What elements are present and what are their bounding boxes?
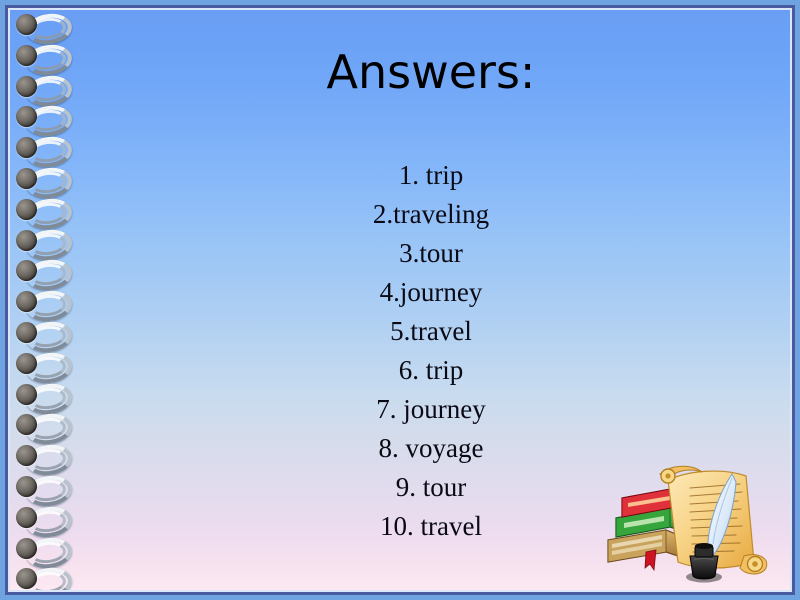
punched-hole — [16, 291, 37, 312]
spiral-wire-highlight — [29, 170, 67, 195]
spiral-wire — [24, 504, 74, 540]
punched-hole — [16, 507, 37, 528]
slide: Answers: 1. trip2.traveling3.tour4.journ… — [0, 0, 800, 600]
spiral-ring — [10, 352, 68, 378]
spiral-ring — [10, 475, 68, 501]
spiral-ring — [10, 321, 68, 347]
punched-hole — [16, 445, 37, 466]
spiral-wire — [24, 381, 74, 417]
spiral-ring — [10, 229, 68, 255]
spiral-ring — [10, 290, 68, 316]
punched-hole — [16, 476, 37, 497]
spiral-wire — [24, 134, 74, 170]
spiral-ring — [10, 259, 68, 285]
punched-hole — [16, 353, 37, 374]
punched-hole — [16, 384, 37, 405]
spiral-wire-highlight — [29, 139, 67, 164]
books-scroll-quill-icon — [594, 444, 784, 584]
spiral-ring — [10, 198, 68, 224]
spiral-wire — [24, 535, 74, 571]
spiral-ring — [10, 444, 68, 470]
spiral-ring — [10, 413, 68, 439]
spiral-wire-highlight — [29, 478, 67, 503]
answer-item: 7. journey — [72, 390, 790, 429]
spiral-wire — [24, 257, 74, 293]
spiral-binding — [10, 10, 72, 590]
spiral-wire-highlight — [29, 16, 67, 41]
answer-item: 3.tour — [72, 234, 790, 273]
spiral-wire — [24, 442, 74, 478]
punched-hole — [16, 106, 37, 127]
spiral-wire — [24, 288, 74, 324]
spiral-wire-highlight — [29, 293, 67, 318]
spiral-wire-highlight — [29, 540, 67, 565]
spiral-wire — [24, 103, 74, 139]
spiral-wire-highlight — [29, 447, 67, 472]
spiral-ring — [10, 136, 68, 162]
spiral-wire — [24, 165, 74, 201]
spiral-wire — [24, 42, 74, 78]
spiral-wire-highlight — [29, 386, 67, 411]
bookmark-ribbon — [645, 550, 656, 570]
spiral-wire-highlight — [29, 324, 67, 349]
spiral-ring — [10, 537, 68, 563]
spiral-wire — [24, 11, 74, 47]
punched-hole — [16, 568, 37, 589]
spiral-ring — [10, 105, 68, 131]
spiral-wire-highlight — [29, 201, 67, 226]
spiral-wire-highlight — [29, 78, 67, 103]
spiral-wire-highlight — [29, 355, 67, 380]
punched-hole — [16, 199, 37, 220]
punched-hole — [16, 260, 37, 281]
spiral-ring — [10, 567, 68, 590]
answer-item: 4.journey — [72, 273, 790, 312]
spiral-ring — [10, 44, 68, 70]
spiral-wire — [24, 227, 74, 263]
punched-hole — [16, 322, 37, 343]
spiral-wire-highlight — [29, 509, 67, 534]
page-title: Answers: — [72, 48, 790, 96]
punched-hole — [16, 137, 37, 158]
punched-hole — [16, 168, 37, 189]
spiral-wire — [24, 565, 74, 590]
spiral-wire — [24, 411, 74, 447]
spiral-wire-highlight — [29, 47, 67, 72]
spiral-wire — [24, 350, 74, 386]
punched-hole — [16, 14, 37, 35]
spiral-wire-highlight — [29, 232, 67, 257]
answer-item: 2.traveling — [72, 195, 790, 234]
notebook-page: Answers: 1. trip2.traveling3.tour4.journ… — [10, 10, 790, 590]
spiral-wire-highlight — [29, 109, 67, 134]
punched-hole — [16, 76, 37, 97]
spiral-wire — [24, 73, 74, 109]
spiral-wire — [24, 196, 74, 232]
spiral-ring — [10, 13, 68, 39]
spiral-ring — [10, 383, 68, 409]
spiral-wire-highlight — [29, 571, 67, 590]
spiral-wire-highlight — [29, 263, 67, 288]
spiral-wire — [24, 473, 74, 509]
answer-item: 5.travel — [72, 312, 790, 351]
spiral-wire-highlight — [29, 417, 67, 442]
spiral-wire — [24, 319, 74, 355]
answer-item: 6. trip — [72, 351, 790, 390]
punched-hole — [16, 45, 37, 66]
punched-hole — [16, 230, 37, 251]
punched-hole — [16, 414, 37, 435]
spiral-ring — [10, 506, 68, 532]
answer-item: 1. trip — [72, 156, 790, 195]
spiral-ring — [10, 75, 68, 101]
punched-hole — [16, 538, 37, 559]
spiral-ring — [10, 167, 68, 193]
